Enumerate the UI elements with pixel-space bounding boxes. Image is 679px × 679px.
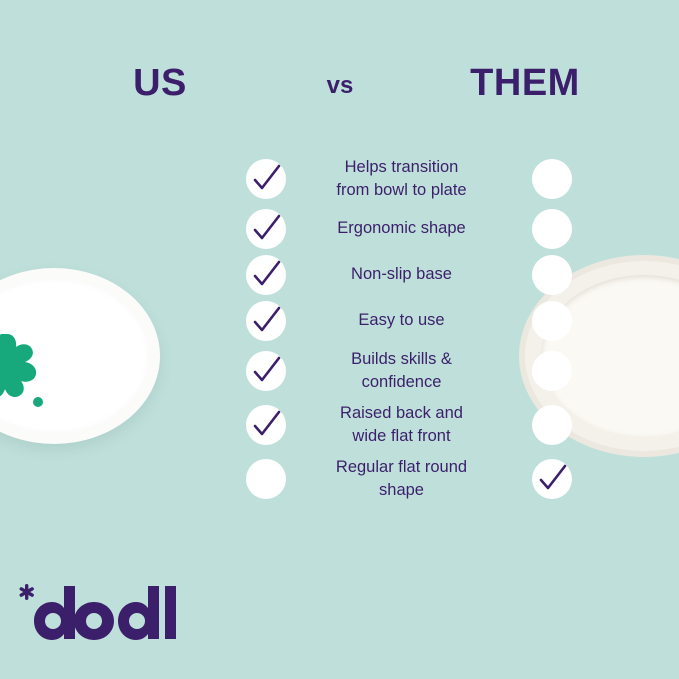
- check-icon: [246, 301, 286, 341]
- them-empty-mark: [532, 159, 572, 199]
- us-cell: [240, 301, 292, 341]
- us-cell: [240, 459, 292, 499]
- comparison-graphic: US vs THEM Helps transitionfrom bowl to …: [0, 0, 679, 679]
- them-cell: [526, 209, 578, 249]
- comparison-row: Builds skills &confidence: [0, 344, 679, 398]
- us-cell: [240, 405, 292, 445]
- comparison-row: Non-slip base: [0, 252, 679, 298]
- them-check-mark: [532, 459, 572, 499]
- feature-label: Builds skills &confidence: [292, 348, 512, 395]
- check-icon: [246, 405, 286, 445]
- comparison-row: Regular flat roundshape: [0, 452, 679, 506]
- them-cell: [526, 255, 578, 295]
- us-check-mark: [246, 255, 286, 295]
- asterisk-icon: [19, 584, 35, 600]
- check-icon: [246, 351, 286, 391]
- comparison-row: Easy to use: [0, 298, 679, 344]
- heading-them: THEM: [450, 62, 600, 105]
- comparison-row: Raised back andwide flat front: [0, 398, 679, 452]
- them-cell: [526, 301, 578, 341]
- us-cell: [240, 255, 292, 295]
- them-empty-mark: [532, 255, 572, 295]
- them-cell: [526, 351, 578, 391]
- them-empty-mark: [532, 351, 572, 391]
- feature-label: Helps transitionfrom bowl to plate: [292, 156, 512, 203]
- them-cell: [526, 405, 578, 445]
- us-check-mark: [246, 351, 286, 391]
- us-cell: [240, 209, 292, 249]
- heading-us: US: [100, 62, 220, 105]
- feature-label: Regular flat roundshape: [292, 456, 512, 503]
- check-icon: [246, 255, 286, 295]
- us-check-mark: [246, 301, 286, 341]
- comparison-row: Helps transitionfrom bowl to plate: [0, 152, 679, 206]
- us-check-mark: [246, 405, 286, 445]
- doddl-logo: [18, 582, 178, 652]
- column-headings: US vs THEM: [0, 62, 679, 122]
- them-empty-mark: [532, 405, 572, 445]
- check-icon: [532, 459, 572, 499]
- feature-label: Non-slip base: [292, 263, 512, 286]
- us-check-mark: [246, 159, 286, 199]
- comparison-rows: Helps transitionfrom bowl to plateErgono…: [0, 152, 679, 506]
- them-cell: [526, 459, 578, 499]
- us-cell: [240, 351, 292, 391]
- us-empty-mark: [246, 459, 286, 499]
- check-icon: [246, 209, 286, 249]
- us-cell: [240, 159, 292, 199]
- them-empty-mark: [532, 209, 572, 249]
- heading-vs: vs: [285, 72, 395, 100]
- comparison-row: Ergonomic shape: [0, 206, 679, 252]
- feature-label: Ergonomic shape: [292, 217, 512, 240]
- feature-label: Easy to use: [292, 309, 512, 332]
- them-empty-mark: [532, 301, 572, 341]
- them-cell: [526, 159, 578, 199]
- us-check-mark: [246, 209, 286, 249]
- feature-label: Raised back andwide flat front: [292, 402, 512, 449]
- check-icon: [246, 159, 286, 199]
